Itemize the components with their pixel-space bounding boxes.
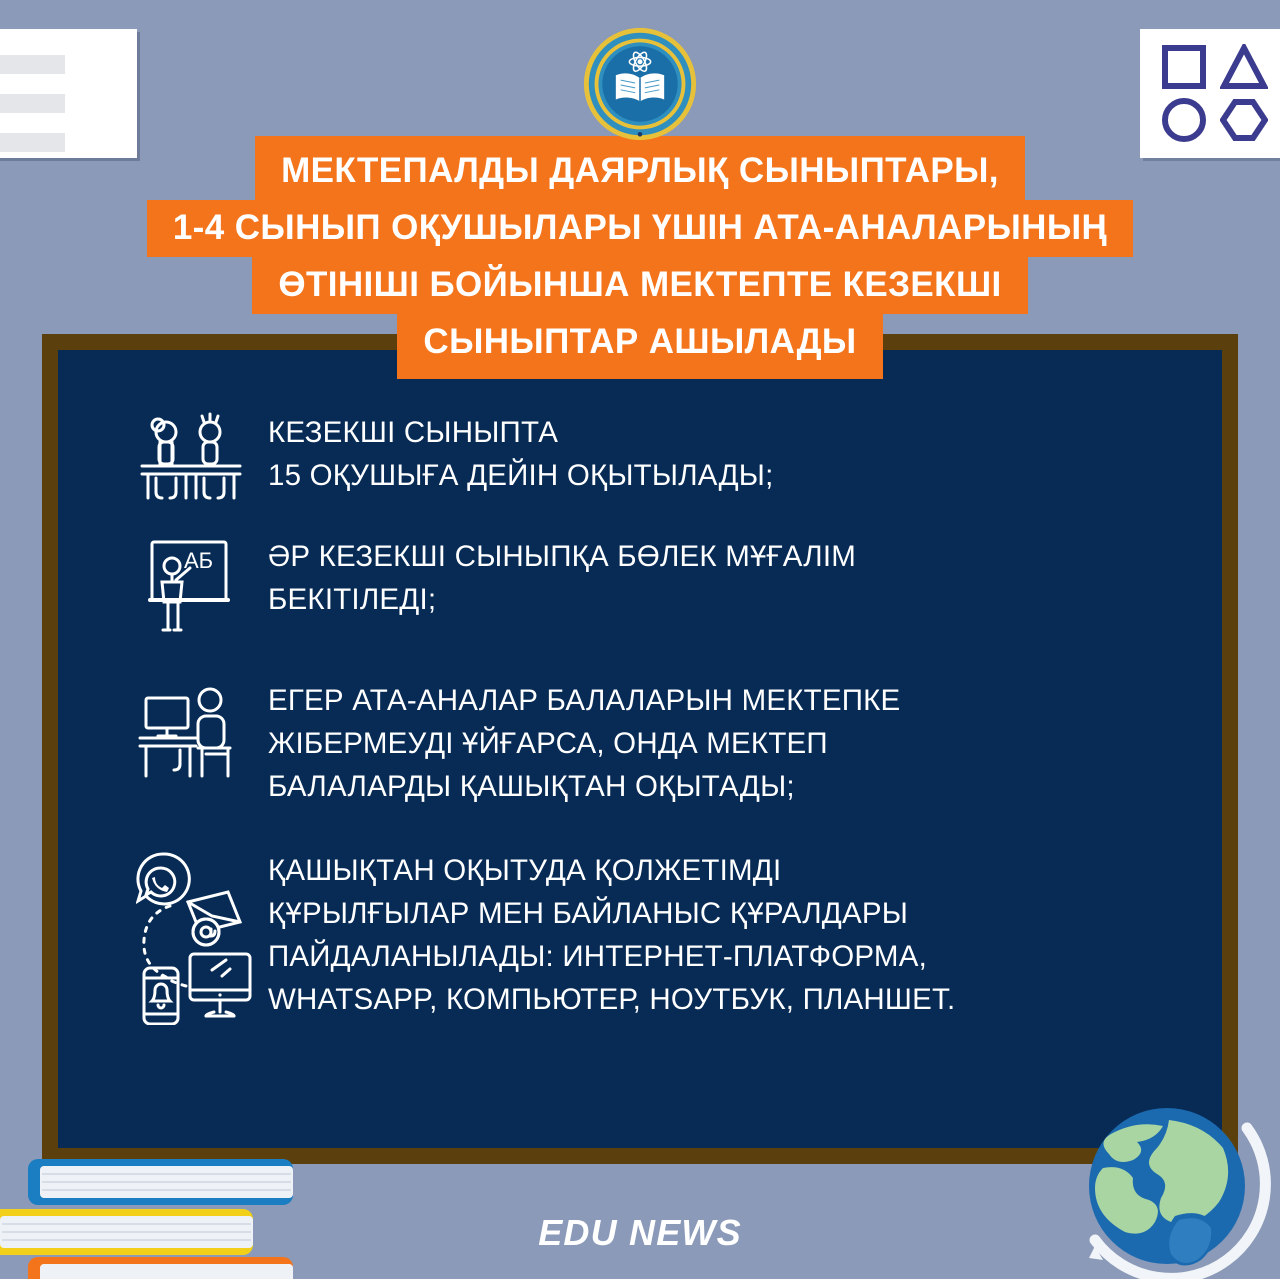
list-item-line: БЕКІТІЛЕДІ;	[268, 579, 856, 622]
list-item-line: ЕГЕР АТА-АНАЛАР БАЛАЛАРЫН МЕКТЕПКЕ	[268, 680, 900, 723]
list-item-line: ҚҰРЫЛҒЫЛАР МЕН БАЙЛАНЫС ҚҰРАЛДАРЫ	[268, 893, 955, 936]
document-line	[0, 94, 65, 113]
blackboard: КЕЗЕКШІ СЫНЫПТА 15 ОҚУШЫҒА ДЕЙІН ОҚЫТЫЛА…	[58, 350, 1222, 1148]
list-item-line: WHATSAPP, КОМПЬЮТЕР, НОУТБУК, ПЛАНШЕТ.	[268, 979, 955, 1022]
list-item: КЕЗЕКШІ СЫНЫПТА 15 ОҚУШЫҒА ДЕЙІН ОҚЫТЫЛА…	[136, 410, 1182, 504]
list-item-line: КЕЗЕКШІ СЫНЫПТА	[268, 412, 774, 455]
title-line: ӨТІНІШІ БОЙЫНША МЕКТЕПТЕ КЕЗЕКШІ	[252, 257, 1027, 314]
person-at-computer-desk-icon	[136, 678, 268, 782]
footer-label: EDU NEWS	[538, 1212, 742, 1254]
title-banner: МЕКТЕПАЛДЫ ДАЯРЛЫҚ СЫНЫПТАРЫ, 1-4 СЫНЫП …	[0, 136, 1280, 379]
devices-and-communication-icon	[136, 848, 268, 1025]
list-item-line: БАЛАЛАРДЫ ҚАШЫҚТАН ОҚЫТАДЫ;	[268, 766, 900, 809]
book-blue	[28, 1159, 293, 1205]
title-line: СЫНЫПТАР АШЫЛАДЫ	[397, 314, 882, 379]
list-item: ЕГЕР АТА-АНАЛАР БАЛАЛАРЫН МЕКТЕПКЕ ЖІБЕР…	[136, 678, 1182, 808]
list-item-line: ӘР КЕЗЕКШІ СЫНЫПҚА БӨЛЕК МҰҒАЛІМ	[268, 536, 856, 579]
list-item-line: ПАЙДАЛАНЫЛАДЫ: ИНТЕРНЕТ-ПЛАТФОРМА,	[268, 936, 955, 979]
book-yellow	[0, 1209, 253, 1255]
list-item-line: ЖІБЕРМЕУДІ ҰЙҒАРСА, ОНДА МЕКТЕП	[268, 723, 900, 766]
teacher-at-blackboard-icon: АБ	[136, 534, 268, 636]
list-item-text: КЕЗЕКШІ СЫНЫПТА 15 ОҚУШЫҒА ДЕЙІН ОҚЫТЫЛА…	[268, 410, 774, 498]
book-orange	[28, 1257, 293, 1279]
list-item-line: 15 ОҚУШЫҒА ДЕЙІН ОҚЫТЫЛАДЫ;	[268, 455, 774, 498]
ministry-emblem	[582, 26, 698, 142]
list-item-line: ҚАШЫҚТАН ОҚЫТУДА ҚОЛЖЕТІМДІ	[268, 850, 955, 893]
list-item-text: ҚАШЫҚТАН ОҚЫТУДА ҚОЛЖЕТІМДІ ҚҰРЫЛҒЫЛАР М…	[268, 848, 955, 1021]
list-item-text: ЕГЕР АТА-АНАЛАР БАЛАЛАРЫН МЕКТЕПКЕ ЖІБЕР…	[268, 678, 900, 808]
stacked-books	[0, 1149, 330, 1279]
students-at-desks-icon	[136, 410, 268, 504]
title-line: МЕКТЕПАЛДЫ ДАЯРЛЫҚ СЫНЫПТАРЫ,	[255, 136, 1025, 200]
square-icon	[1161, 44, 1207, 90]
list-item: АБ ӘР КЕЗЕКШІ СЫНЫПҚА БӨЛЕК МҰҒАЛІМ БЕКІ…	[136, 534, 1182, 636]
document-line	[0, 55, 65, 74]
title-line: 1-4 СЫНЫП ОҚУШЫЛАРЫ ҮШІН АТА-АНАЛАРЫНЫҢ	[147, 200, 1133, 257]
list-item: ҚАШЫҚТАН ОҚЫТУДА ҚОЛЖЕТІМДІ ҚҰРЫЛҒЫЛАР М…	[136, 848, 1182, 1025]
triangle-icon	[1220, 44, 1268, 90]
list-item-text: ӘР КЕЗЕКШІ СЫНЫПҚА БӨЛЕК МҰҒАЛІМ БЕКІТІЛ…	[268, 534, 856, 622]
globe	[1059, 1094, 1274, 1279]
blackboard-frame: КЕЗЕКШІ СЫНЫПТА 15 ОҚУШЫҒА ДЕЙІН ОҚЫТЫЛА…	[42, 334, 1238, 1164]
